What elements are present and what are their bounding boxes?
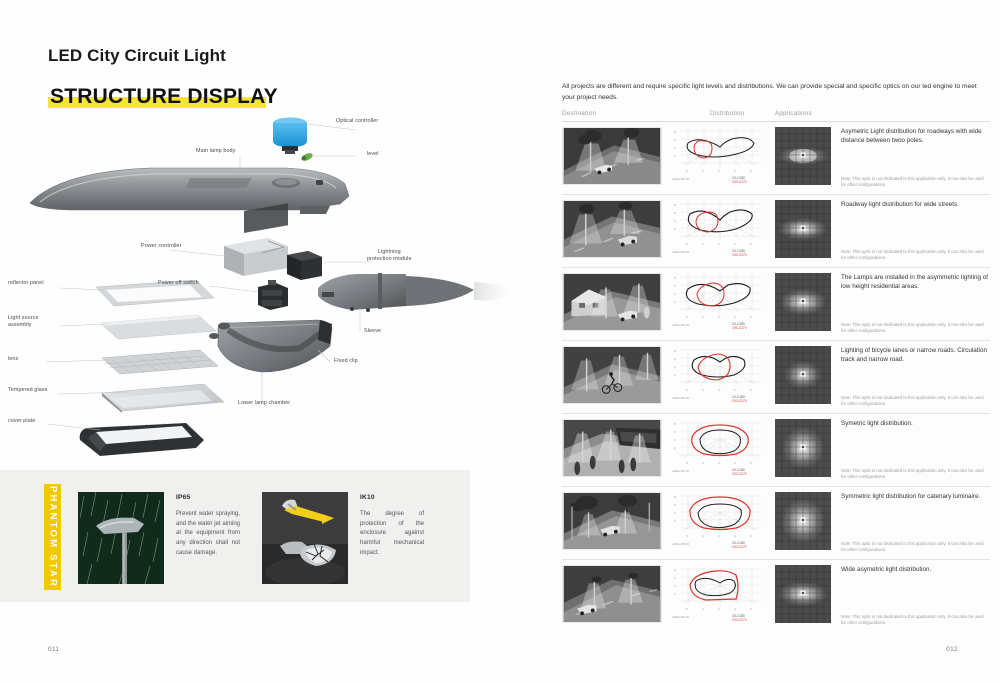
svg-text:4: 4 (674, 365, 676, 369)
left-page-number: 011 (48, 646, 59, 653)
svg-text:4: 4 (734, 388, 736, 392)
power-off-switch-part (258, 280, 288, 310)
svg-text:cd/klm 80 90: cd/klm 80 90 (672, 469, 689, 473)
feature-code-ik10: IK10 (360, 494, 375, 501)
svg-text:6: 6 (750, 388, 752, 392)
svg-text:8: 8 (674, 130, 676, 134)
svg-text:8: 8 (674, 422, 676, 426)
polar-diagram-symmetric: 8642 64246 C0-C180 C90-C270 cd/klm 80 90 (670, 419, 772, 477)
scene-roadway-wide-pole-spacing (562, 127, 662, 185)
svg-text:6: 6 (674, 357, 676, 361)
svg-text:4: 4 (734, 169, 736, 173)
left-page: LED City Circuit Light STRUCTURE DISPLAY (0, 0, 520, 683)
brand-tab: PHANTOM STAR (44, 484, 61, 590)
distribution-table: Destination Distribution Applications (562, 110, 990, 632)
cover-plate-part (80, 423, 204, 456)
feature-desc-ik10: The degree of protection of the enclosur… (360, 510, 424, 559)
destination-cell (562, 200, 670, 263)
svg-text:4: 4 (702, 242, 704, 246)
svg-text:2: 2 (674, 446, 676, 450)
power-controller-part (224, 203, 288, 276)
svg-text:cd/klm 80 90: cd/klm 80 90 (672, 396, 689, 400)
svg-text:6: 6 (686, 169, 688, 173)
svg-text:6: 6 (750, 169, 752, 173)
diagram-label-tempered-glass: Tempered glass (8, 387, 47, 394)
scene-bicycle-lane-narrow-road (562, 346, 662, 404)
application-cell: Symmetric light distribution for catenar… (833, 492, 990, 555)
svg-text:C90-C270: C90-C270 (732, 326, 747, 330)
distribution-cell: 8642 64246 C0-C180 C90-C270 cd/klm 80 90 (670, 565, 775, 628)
svg-text:C90-C270: C90-C270 (732, 545, 747, 549)
application-cell: Lighting of bicycle lanes or narrow road… (833, 346, 990, 409)
svg-text:4: 4 (674, 584, 676, 588)
svg-text:6: 6 (750, 534, 752, 538)
light-pool-cell (775, 419, 833, 482)
application-note: Note: This optic is not dedicated to thi… (841, 249, 986, 261)
light-pool-round (775, 419, 831, 477)
main-lamp-body-part (30, 168, 349, 214)
svg-text:4: 4 (702, 388, 704, 392)
svg-text:2: 2 (674, 300, 676, 304)
svg-text:6: 6 (674, 211, 676, 215)
intro-paragraph: All projects are different and require s… (562, 82, 982, 103)
diagram-label-light-source-assembly: Light source assembly (8, 315, 39, 330)
application-text: Lighting of bicycle lanes or narrow road… (841, 346, 990, 365)
distribution-cell: 8642 64246 C0-C180 C90-C270 cd/klm 80 90 (670, 127, 775, 190)
svg-text:2: 2 (674, 519, 676, 523)
diagram-label-cover-plate: cover plate (8, 418, 35, 425)
svg-text:6: 6 (674, 576, 676, 580)
svg-text:6: 6 (750, 461, 752, 465)
assembly-svg (0, 110, 520, 460)
light-pool-wide-bat (775, 127, 831, 185)
svg-text:4: 4 (702, 461, 704, 465)
tempered-glass-part (102, 384, 224, 413)
svg-text:4: 4 (702, 169, 704, 173)
polar-diagram-wide-asymmetric: 8642 64246 C0-C180 C90-C270 cd/klm 80 90 (670, 565, 772, 623)
svg-text:6: 6 (686, 315, 688, 319)
svg-text:2: 2 (718, 242, 720, 246)
brand-tab-label: PHANTOM STAR (48, 486, 58, 588)
lightning-protection-module-part (287, 251, 322, 280)
diagram-label-level: level (367, 151, 379, 158)
light-pool-cell (775, 273, 833, 336)
polar-diagram-asymmetric-wide: 8642 64246 C0-C180 C90-C270 cd/klm 80 90 (670, 127, 772, 185)
svg-text:4: 4 (674, 292, 676, 296)
application-text: Asymetric Light distribution for roadway… (841, 127, 990, 146)
diagram-label-lower-lamp-chamber: Lower lamp chamber (238, 400, 290, 407)
svg-text:6: 6 (686, 461, 688, 465)
section-heading-text: STRUCTURE DISPLAY (50, 85, 278, 108)
svg-text:4: 4 (674, 146, 676, 150)
svg-text:6: 6 (686, 242, 688, 246)
diagram-label-fixed-clip: Fixed clip (334, 358, 358, 365)
light-pool-cell (775, 492, 833, 555)
destination-cell (562, 346, 670, 409)
light-source-assembly-part (100, 315, 216, 339)
svg-text:6: 6 (686, 607, 688, 611)
distribution-cell: 8642 64246 C0-C180 C90-C270 cd/klm 80 90 (670, 273, 775, 336)
destination-cell (562, 419, 670, 482)
light-pool-narrow-oval (775, 346, 831, 404)
svg-text:2: 2 (718, 607, 720, 611)
hammer-impact-test-photo (262, 492, 348, 584)
svg-text:4: 4 (734, 534, 736, 538)
table-row: 8642 64246 C0-C180 C90-C270 cd/klm 80 90 (562, 122, 990, 195)
sleeve-part (318, 273, 520, 312)
application-cell: Symetric light distribution. Note: This … (833, 419, 990, 482)
destination-cell (562, 127, 670, 190)
application-text: Wide asymetric light distribution. (841, 565, 990, 574)
table-row: 8642 64246 C0-C180 C90-C270 cd/klm 80 90 (562, 341, 990, 414)
svg-text:2: 2 (674, 373, 676, 377)
diagram-label-sleeve: Sleeve (364, 328, 381, 335)
svg-text:6: 6 (750, 607, 752, 611)
svg-text:C90-C270: C90-C270 (732, 399, 747, 403)
feature-desc-ip65: Prevent water spraying, and the water je… (176, 510, 240, 559)
column-header-applications: Applications (775, 110, 990, 117)
svg-text:2: 2 (674, 592, 676, 596)
application-cell: Wide asymetric light distribution. Note:… (833, 565, 990, 628)
catalog-spread: LED City Circuit Light STRUCTURE DISPLAY (0, 0, 1000, 683)
svg-text:2: 2 (674, 227, 676, 231)
svg-text:4: 4 (702, 534, 704, 538)
page-title: LED City Circuit Light (48, 46, 226, 66)
polar-diagram-asymmetric-low: 8642 64246 C0-C180 C90-C270 cd/klm 80 90 (670, 273, 772, 331)
application-cell: Roadway light distribution for wide stre… (833, 200, 990, 263)
svg-text:2: 2 (718, 169, 720, 173)
application-cell: The Lamps are installed in the asymmetri… (833, 273, 990, 336)
svg-text:2: 2 (674, 154, 676, 158)
destination-cell (562, 492, 670, 555)
table-row: 8642 64246 C0-C180 C90-C270 cd/klm 80 90 (562, 268, 990, 341)
svg-text:4: 4 (674, 219, 676, 223)
application-note: Note: This optic is not dedicated to thi… (841, 176, 986, 188)
svg-text:6: 6 (674, 138, 676, 142)
svg-text:6: 6 (674, 284, 676, 288)
svg-text:4: 4 (734, 607, 736, 611)
table-row: 8642 64246 C0-C180 C90-C270 cd/klm 80 90 (562, 195, 990, 268)
diagram-label-lightning-protection-module: Lightning protection module (367, 249, 412, 264)
light-pool-cell (775, 565, 833, 628)
table-row: 8642 64246 C0-C180 C90-C270 cd/klm 80 90 (562, 414, 990, 487)
street-light-in-rain-photo (78, 492, 164, 584)
application-text: Roadway light distribution for wide stre… (841, 200, 990, 209)
svg-text:6: 6 (674, 503, 676, 507)
column-header-distribution: Distribution (710, 110, 775, 117)
svg-text:8: 8 (674, 203, 676, 207)
polar-diagram-symmetric-catenary: 8642 64246 C0-C180 C90-C270 cd/klm 80 90 (670, 492, 772, 550)
application-note: Note: This optic is not dedicated to thi… (841, 541, 986, 553)
distribution-cell: 8642 64246 C0-C180 C90-C270 cd/klm 80 90 (670, 419, 775, 482)
distribution-cell: 8642 64246 C0-C180 C90-C270 cd/klm 80 90 (670, 492, 775, 555)
diagram-label-power-controller: Power controller (141, 243, 182, 250)
application-text: Symetric light distribution. (841, 419, 990, 428)
polar-diagram-narrow-asymmetric: 8642 64246 C0-C180 C90-C270 cd/klm 80 90 (670, 346, 772, 404)
svg-text:C90-C270: C90-C270 (732, 618, 747, 622)
right-page-number: 012 (946, 646, 958, 653)
svg-text:cd/klm 80 90: cd/klm 80 90 (672, 542, 689, 546)
scene-wide-street (562, 200, 662, 258)
svg-text:C90-C270: C90-C270 (732, 472, 747, 476)
application-note: Note: This optic is not dedicated to thi… (841, 322, 986, 334)
svg-text:8: 8 (674, 349, 676, 353)
destination-cell (562, 565, 670, 628)
scene-catenary-street (562, 492, 662, 550)
svg-text:8: 8 (674, 276, 676, 280)
svg-text:cd/klm 80 90: cd/klm 80 90 (672, 250, 689, 254)
light-pool-round-soft (775, 492, 831, 550)
svg-text:C90-C270: C90-C270 (732, 180, 747, 184)
svg-text:4: 4 (734, 315, 736, 319)
svg-text:6: 6 (750, 242, 752, 246)
svg-text:6: 6 (686, 388, 688, 392)
svg-text:8: 8 (674, 495, 676, 499)
svg-text:2: 2 (718, 461, 720, 465)
svg-text:cd/klm 80 90: cd/klm 80 90 (672, 323, 689, 327)
application-note: Note: This optic is not dedicated to thi… (841, 468, 986, 480)
application-note: Note: This optic is not dedicated to thi… (841, 614, 986, 626)
light-pool-cell (775, 346, 833, 409)
svg-text:4: 4 (734, 461, 736, 465)
light-pool-cell (775, 200, 833, 263)
application-text: Symmetric light distribution for catenar… (841, 492, 990, 501)
lens-part (102, 350, 218, 374)
svg-text:6: 6 (674, 430, 676, 434)
exploded-assembly-diagram: Optical controller level Main lamp body … (0, 110, 520, 460)
column-header-destination: Destination (562, 110, 710, 117)
light-pool-soft-oval (775, 273, 831, 331)
diagram-label-optical-controller: Optical controller (336, 118, 378, 125)
svg-text:8: 8 (674, 568, 676, 572)
diagram-label-power-off-switch: Power off switch (158, 280, 199, 287)
lower-lamp-chamber-part (209, 320, 332, 372)
svg-text:4: 4 (702, 607, 704, 611)
section-heading: STRUCTURE DISPLAY (48, 84, 284, 110)
table-row: 8642 64246 C0-C180 C90-C270 cd/klm 80 90 (562, 487, 990, 560)
diagram-label-lens: lens (8, 356, 18, 363)
svg-text:2: 2 (718, 388, 720, 392)
table-row: 8642 64246 C0-C180 C90-C270 cd/klm 80 90 (562, 560, 990, 632)
svg-text:4: 4 (674, 511, 676, 515)
distribution-cell: 8642 64246 C0-C180 C90-C270 cd/klm 80 90 (670, 346, 775, 409)
svg-text:cd/klm 80 90: cd/klm 80 90 (672, 615, 689, 619)
application-note: Note: This optic is not dedicated to thi… (841, 395, 986, 407)
application-text: The Lamps are installed in the asymmetri… (841, 273, 990, 292)
polar-diagram-asymmetric-roadway: 8642 64246 C0-C180 C90-C270 cd/klm 80 90 (670, 200, 772, 258)
light-pool-flat-oval (775, 565, 831, 623)
right-page: All projects are different and require s… (520, 0, 1000, 683)
svg-text:6: 6 (686, 534, 688, 538)
svg-text:4: 4 (674, 438, 676, 442)
svg-text:4: 4 (702, 315, 704, 319)
optical-controller-part (273, 118, 307, 155)
light-pool-cell (775, 127, 833, 190)
level-part (300, 152, 314, 163)
destination-cell (562, 273, 670, 336)
svg-text:C90-C270: C90-C270 (732, 253, 747, 257)
diagram-label-main-lamp-body: Main lamp body (196, 148, 235, 155)
scene-pedestrian-plaza (562, 419, 662, 477)
svg-text:6: 6 (750, 315, 752, 319)
distribution-cell: 8642 64246 C0-C180 C90-C270 cd/klm 80 90 (670, 200, 775, 263)
svg-text:2: 2 (718, 315, 720, 319)
scene-low-height-residential (562, 273, 662, 331)
svg-text:2: 2 (718, 534, 720, 538)
svg-text:4: 4 (734, 242, 736, 246)
diagram-label-reflector-panel: reflector panel (8, 280, 44, 287)
light-pool-wide-oval (775, 200, 831, 258)
application-cell: Asymetric Light distribution for roadway… (833, 127, 990, 190)
feature-code-ip65: IP65 (176, 494, 190, 501)
table-header-row: Destination Distribution Applications (562, 110, 990, 122)
svg-text:cd/klm 80 90: cd/klm 80 90 (672, 177, 689, 181)
scene-wide-asymmetric-road (562, 565, 662, 623)
